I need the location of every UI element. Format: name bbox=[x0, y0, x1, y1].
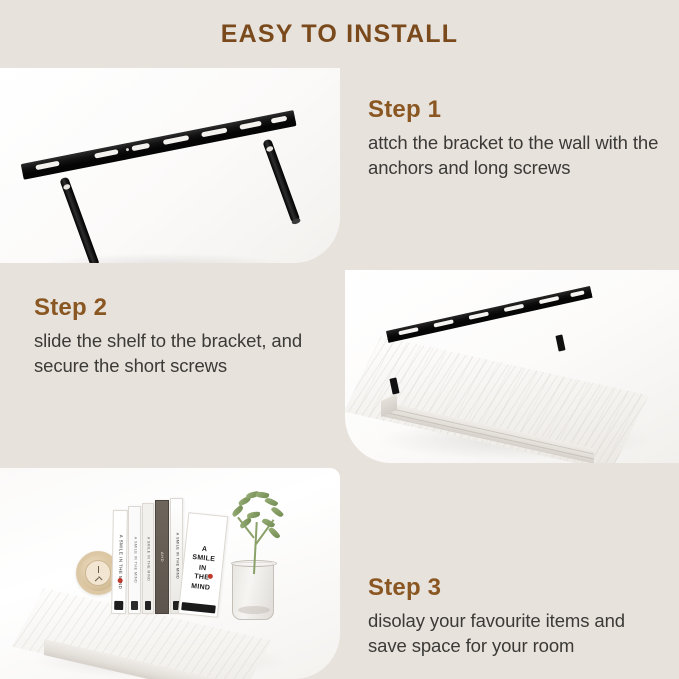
step-2-text-panel: Step 2 slide the shelf to the bracket, a… bbox=[0, 272, 340, 466]
step-2-block: Step 2 slide the shelf to the bracket, a… bbox=[0, 272, 340, 378]
styled-shelf-illustration: A SMILE IN THE MIND A SMILE IN THE MIND … bbox=[0, 468, 340, 679]
step-3-body: disolay your favourite items and save sp… bbox=[368, 609, 663, 658]
bracket-shadow bbox=[40, 253, 290, 263]
shelf-bracket-rail bbox=[386, 286, 592, 341]
clock-face bbox=[85, 560, 111, 586]
clock-hand-minute bbox=[98, 566, 99, 573]
shelf-with-bracket-illustration bbox=[345, 270, 679, 463]
step-1-body: attch the bracket to the wall with the a… bbox=[368, 131, 663, 180]
vase-base bbox=[238, 606, 270, 614]
page-title: EASY TO INSTALL bbox=[221, 20, 458, 49]
step-1-image-panel bbox=[0, 68, 340, 263]
book-cover-front: A SMILE IN THE MIND bbox=[178, 512, 228, 618]
step-3-heading: Step 3 bbox=[368, 574, 663, 602]
header-bar: EASY TO INSTALL bbox=[0, 0, 679, 68]
book-spine-4: AHD bbox=[155, 500, 169, 614]
bracket-rail bbox=[21, 110, 296, 177]
bracket-rod-left bbox=[59, 176, 100, 263]
step-2-image-panel bbox=[345, 270, 679, 463]
book-spine-3: A SMILE IN THE MIND bbox=[142, 503, 154, 614]
book-3-title: A SMILE IN THE MIND bbox=[145, 536, 150, 580]
step-3-image-panel: A SMILE IN THE MIND A SMILE IN THE MIND … bbox=[0, 468, 340, 679]
step-3-block: Step 3 disolay your favourite items and … bbox=[350, 468, 679, 658]
step-1-block: Step 1 attch the bracket to the wall wit… bbox=[350, 68, 679, 180]
book-spine-2: A SMILE IN THE MIND bbox=[128, 506, 141, 614]
bracket-foot-right bbox=[555, 334, 565, 351]
bracket-rod-right bbox=[262, 138, 300, 223]
book-2-title: A SMILE IN THE MIND bbox=[132, 537, 137, 583]
book-5-title: A SMILE IN THE MIND bbox=[174, 533, 179, 579]
bracket-illustration bbox=[0, 68, 340, 263]
clock-hand-second bbox=[94, 577, 99, 582]
book-4-title: AHD bbox=[159, 552, 165, 562]
book-cover-title: A SMILE IN THE MIND bbox=[189, 544, 217, 593]
step-2-heading: Step 2 bbox=[34, 294, 324, 322]
step-1-heading: Step 1 bbox=[368, 96, 663, 124]
step-1-text-panel: Step 1 attch the bracket to the wall wit… bbox=[350, 68, 679, 263]
book-spine-1: A SMILE IN THE MIND bbox=[111, 510, 128, 614]
step-2-body: slide the shelf to the bracket, and secu… bbox=[34, 329, 324, 378]
steps-grid: Step 1 attch the bracket to the wall wit… bbox=[0, 68, 679, 679]
step-3-text-panel: Step 3 disolay your favourite items and … bbox=[350, 468, 679, 679]
